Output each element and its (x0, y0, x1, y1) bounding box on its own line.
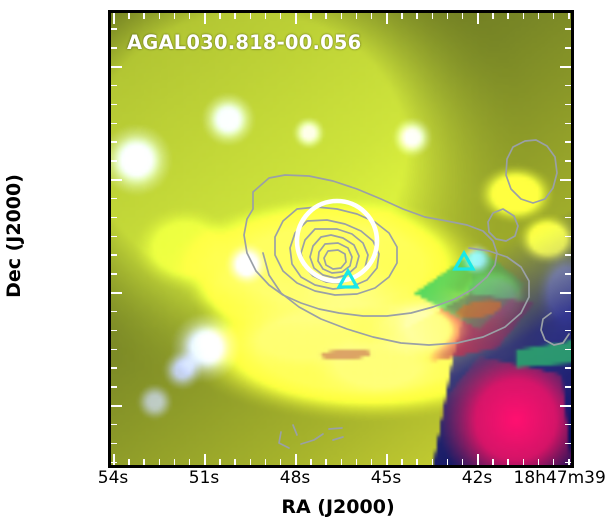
x-tick-top (523, 13, 525, 19)
y-tick-left (111, 85, 117, 87)
y-tick-right (565, 349, 571, 351)
x-tick-bottom (401, 459, 403, 465)
x-tick-top (174, 13, 176, 19)
y-tick-left (111, 462, 117, 464)
x-tick-top (371, 13, 373, 19)
y-tick-left (111, 349, 117, 351)
y-tick-right (565, 160, 571, 162)
y-tick-right (565, 330, 571, 332)
x-tick-bottom (310, 459, 312, 465)
y-tick-left (111, 217, 117, 219)
x-tick-label: 48s (280, 468, 311, 488)
y-tick-right (565, 424, 571, 426)
astronomical-figure: AGAL030.818-00.056 54s51s48s45s42s18h47m… (0, 0, 605, 527)
x-tick-top (128, 13, 130, 19)
x-tick-bottom (204, 454, 206, 465)
x-tick-bottom (507, 459, 509, 465)
x-tick-label: 42s (462, 468, 493, 488)
x-tick-label: 18h47m39s (514, 468, 605, 488)
x-tick-top (416, 13, 418, 19)
x-tick-bottom (477, 454, 479, 465)
y-tick-right (560, 292, 571, 294)
y-tick-right (565, 367, 571, 369)
x-tick-top (356, 13, 358, 19)
contour-level-8 (324, 250, 346, 269)
y-tick-right (565, 28, 571, 30)
y-tick-right (565, 254, 571, 256)
y-tick-left (111, 367, 117, 369)
x-tick-top (159, 13, 161, 19)
x-tick-bottom (447, 459, 449, 465)
y-tick-left (111, 123, 117, 125)
y-tick-right (565, 104, 571, 106)
x-tick-label: 51s (189, 468, 220, 488)
x-tick-top (447, 13, 449, 19)
y-tick-left (111, 160, 117, 162)
x-tick-top (507, 13, 509, 19)
y-tick-left (111, 179, 122, 181)
x-tick-top (386, 13, 388, 24)
y-tick-right (565, 198, 571, 200)
y-tick-left (111, 104, 117, 106)
x-tick-top (143, 13, 145, 19)
x-tick-bottom (189, 459, 191, 465)
y-tick-left (111, 424, 117, 426)
x-tick-bottom (492, 459, 494, 465)
x-tick-top (234, 13, 236, 19)
contour-ne-large (506, 140, 557, 203)
x-tick-top (462, 13, 464, 19)
x-tick-bottom (462, 459, 464, 465)
x-tick-bottom (356, 459, 358, 465)
y-tick-left (111, 292, 122, 294)
x-axis-title: RA (J2000) (281, 496, 394, 518)
y-tick-left (111, 66, 122, 68)
x-tick-bottom (143, 459, 145, 465)
contour-ne-small (488, 209, 518, 241)
overlay-layer (111, 13, 571, 465)
x-tick-bottom (553, 459, 555, 465)
x-tick-bottom (523, 459, 525, 465)
contour-dashed-south (279, 425, 343, 448)
y-tick-right (565, 443, 571, 445)
x-tick-bottom (280, 459, 282, 465)
x-tick-bottom (416, 459, 418, 465)
x-tick-top (401, 13, 403, 19)
sky-image-panel: AGAL030.818-00.056 (108, 10, 574, 468)
x-tick-top (341, 13, 343, 19)
x-tick-top (325, 13, 327, 19)
x-tick-top (553, 13, 555, 19)
y-tick-right (565, 462, 571, 464)
x-tick-top (477, 13, 479, 24)
x-tick-top (492, 13, 494, 19)
x-tick-top (538, 13, 540, 19)
x-tick-bottom (295, 454, 297, 465)
x-tick-bottom (174, 459, 176, 465)
x-tick-bottom (386, 454, 388, 465)
contour-group (244, 140, 569, 448)
x-tick-bottom (371, 459, 373, 465)
maser-marker-2 (455, 253, 473, 269)
y-tick-left (111, 443, 117, 445)
x-tick-top (568, 13, 570, 19)
y-tick-left (111, 330, 117, 332)
x-tick-bottom (265, 459, 267, 465)
x-tick-top (219, 13, 221, 19)
y-tick-right (565, 273, 571, 275)
x-tick-bottom (341, 459, 343, 465)
y-tick-left (111, 386, 117, 388)
y-tick-left (111, 141, 117, 143)
x-tick-label: 54s (98, 468, 129, 488)
y-tick-right (565, 123, 571, 125)
y-tick-left (111, 405, 122, 407)
x-tick-top (204, 13, 206, 24)
y-axis-title: Dec (J2000) (3, 174, 25, 298)
y-tick-right (565, 386, 571, 388)
y-tick-left (111, 28, 117, 30)
y-tick-left (111, 198, 117, 200)
x-tick-bottom (325, 459, 327, 465)
y-tick-right (565, 85, 571, 87)
x-tick-top (295, 13, 297, 24)
y-tick-right (565, 311, 571, 313)
y-tick-right (560, 66, 571, 68)
x-tick-bottom (538, 459, 540, 465)
x-tick-label: 45s (371, 468, 402, 488)
y-tick-right (565, 236, 571, 238)
x-tick-bottom (234, 459, 236, 465)
x-tick-bottom (219, 459, 221, 465)
x-tick-bottom (159, 459, 161, 465)
y-tick-left (111, 254, 117, 256)
x-tick-bottom (432, 459, 434, 465)
x-tick-top (280, 13, 282, 19)
y-tick-right (565, 141, 571, 143)
y-tick-left (111, 273, 117, 275)
y-tick-right (560, 179, 571, 181)
x-tick-bottom (113, 454, 115, 465)
x-tick-top (310, 13, 312, 19)
x-tick-top (432, 13, 434, 19)
x-tick-top (189, 13, 191, 19)
y-tick-left (111, 47, 117, 49)
x-tick-top (113, 13, 115, 24)
x-tick-bottom (128, 459, 130, 465)
y-tick-right (560, 405, 571, 407)
x-tick-bottom (250, 459, 252, 465)
y-tick-right (565, 47, 571, 49)
y-tick-left (111, 236, 117, 238)
y-tick-left (111, 311, 117, 313)
x-tick-top (250, 13, 252, 19)
y-tick-right (565, 217, 571, 219)
source-title: AGAL030.818-00.056 (127, 31, 361, 54)
x-tick-top (265, 13, 267, 19)
contour-level-1 (244, 175, 497, 316)
